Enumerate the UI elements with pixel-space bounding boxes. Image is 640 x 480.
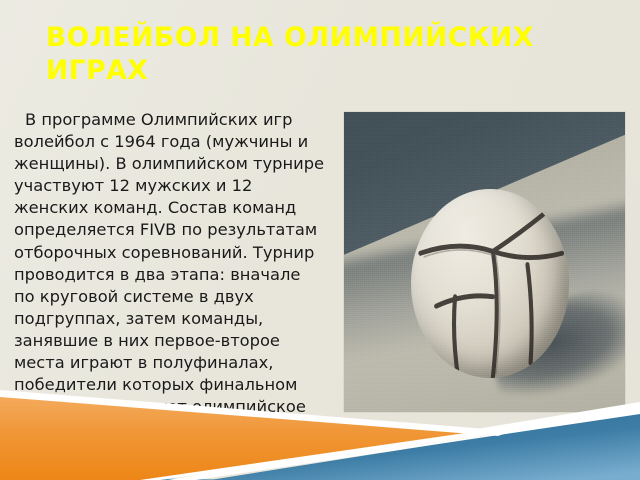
slide-title: Волейбол на Олимпийских играх <box>46 21 566 87</box>
presentation-slide: Волейбол на Олимпийских играх В программ… <box>0 0 640 480</box>
volleyball-photo <box>344 112 625 412</box>
slide-decoration-band <box>0 390 640 480</box>
photo-scene <box>344 112 625 412</box>
photo-grain <box>344 112 625 412</box>
